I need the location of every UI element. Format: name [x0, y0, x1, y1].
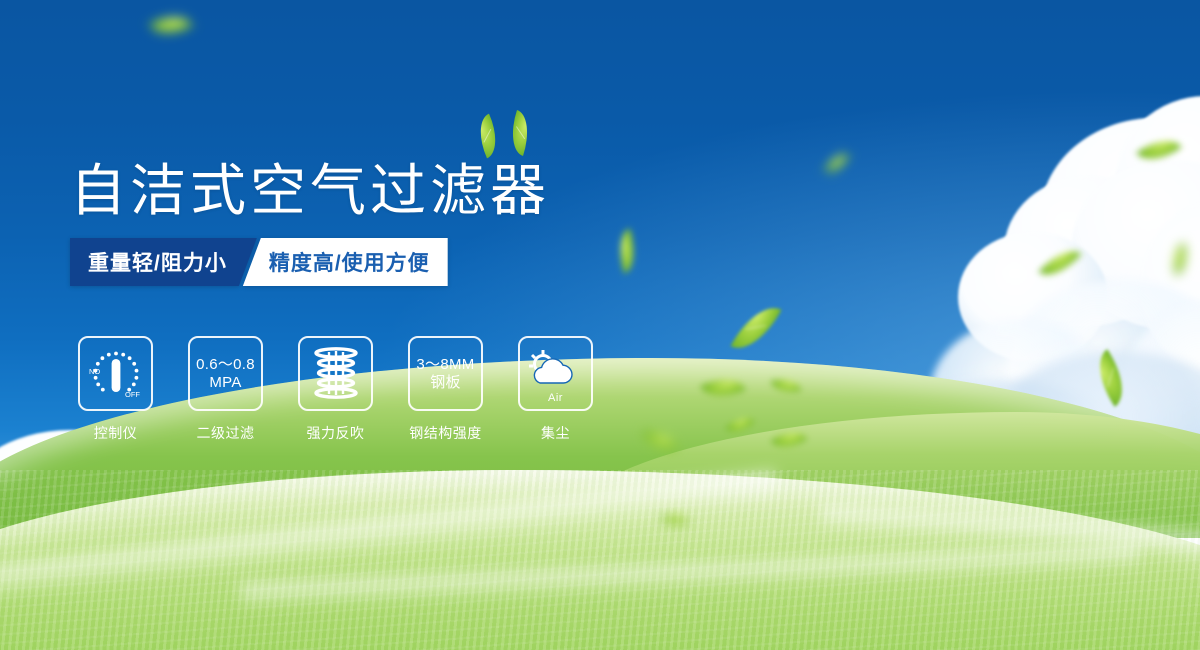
- dial-gauge-icon: NO OFF: [85, 343, 147, 405]
- feature-item-steel-strength[interactable]: 3～8MM 钢板 钢结构强度: [408, 336, 483, 443]
- coil-stack-icon: [308, 345, 364, 403]
- cloud-sun-icon: [526, 347, 586, 393]
- feature-item-control-panel[interactable]: NO OFF 控制仪: [78, 336, 153, 443]
- feature-icon-box: Air: [518, 336, 593, 411]
- feature-label: 集尘: [518, 423, 593, 443]
- subtitle-tag-primary: 重量轻/阻力小: [70, 238, 257, 286]
- pressure-range: 0.6～0.8: [196, 356, 255, 374]
- feature-icon-box: 3～8MM 钢板: [408, 336, 483, 411]
- steel-thickness: 3～8MM: [416, 356, 474, 374]
- pressure-value-icon: 0.6～0.8 MPA: [196, 356, 255, 391]
- subtitle-tag-secondary: 精度高/使用方便: [243, 238, 448, 286]
- feature-icon-row: NO OFF 控制仪 0.6～0.8 MPA 二级过滤: [78, 336, 593, 443]
- cloud-shape: [534, 358, 572, 382]
- feature-label: 钢结构强度: [408, 423, 483, 443]
- subtitle-tag-bar: 重量轻/阻力小 精度高/使用方便: [70, 238, 448, 286]
- product-hero-banner: 自洁式空气过滤器 重量轻/阻力小 精度高/使用方便: [0, 0, 1200, 650]
- feature-item-dust-collection[interactable]: Air 集尘: [518, 336, 593, 443]
- dial-no-label: NO: [89, 367, 100, 376]
- feature-item-two-stage-filter[interactable]: 0.6～0.8 MPA 二级过滤: [188, 336, 263, 443]
- feature-icon-box: NO OFF: [78, 336, 153, 411]
- feature-icon-box: 0.6～0.8 MPA: [188, 336, 263, 411]
- feature-icon-box: [298, 336, 373, 411]
- air-caption: Air: [520, 392, 591, 404]
- feature-label: 控制仪: [78, 423, 153, 443]
- feature-item-reverse-blow[interactable]: 强力反吹: [298, 336, 373, 443]
- feature-label: 二级过滤: [188, 423, 263, 443]
- steel-plate-value-icon: 3～8MM 钢板: [416, 356, 474, 391]
- feature-label: 强力反吹: [298, 423, 373, 443]
- steel-material: 钢板: [416, 374, 474, 392]
- dial-off-label: OFF: [125, 390, 140, 399]
- pressure-unit: MPA: [196, 374, 255, 392]
- page-title: 自洁式空气过滤器: [70, 146, 550, 227]
